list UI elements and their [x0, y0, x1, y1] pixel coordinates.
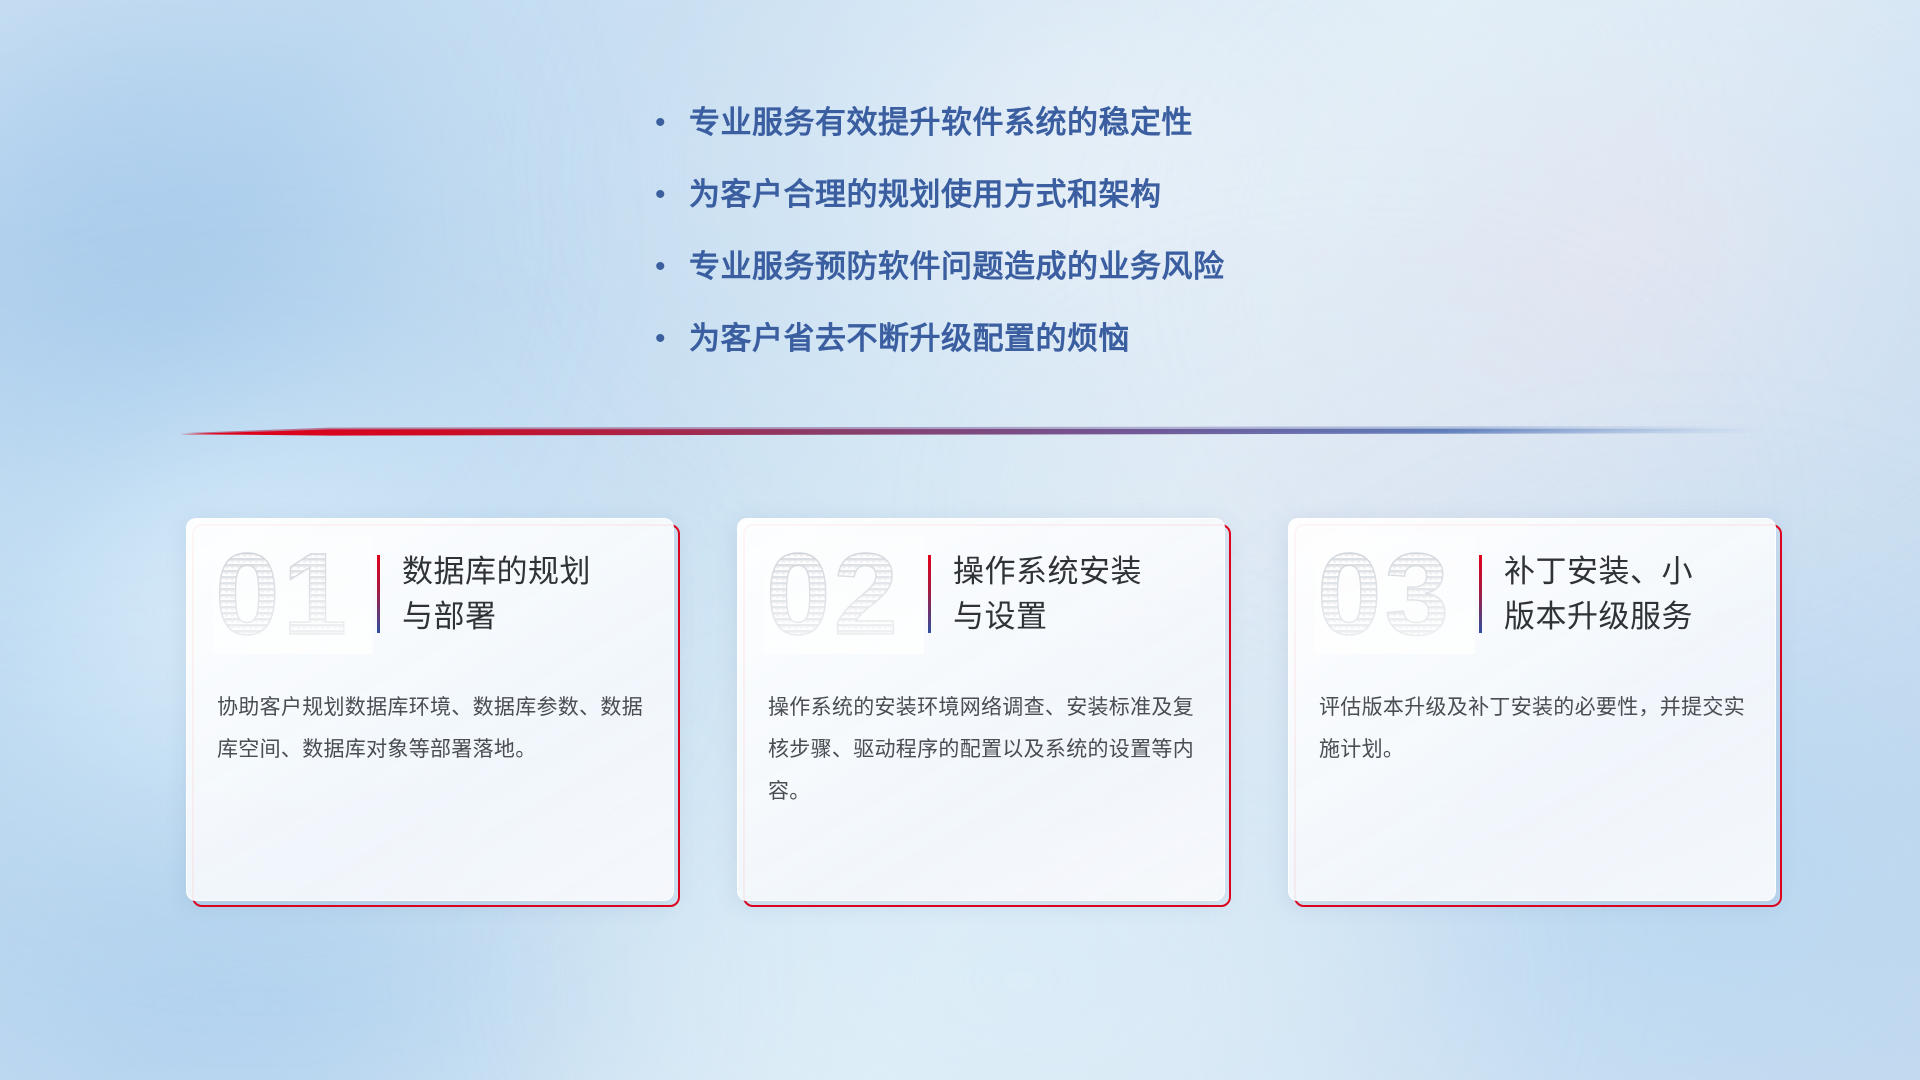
service-card[interactable]: 01 数据库的规划 与部署 协助客户规划数据库环境、数据库参数、数据库空间、数据… — [186, 518, 674, 901]
bullet-label: 为客户省去不断升级配置的烦恼 — [689, 316, 1130, 362]
card-description: 操作系统的安装环境网络调查、安装标准及复核步骤、驱动程序的配置以及系统的设置等内… — [738, 669, 1224, 813]
card-description: 协助客户规划数据库环境、数据库参数、数据库空间、数据库对象等部署落地。 — [187, 669, 673, 771]
list-item: • 为客户合理的规划使用方式和架构 — [655, 172, 1555, 218]
list-item: • 专业服务预防软件问题造成的业务风险 — [655, 244, 1555, 290]
bullet-dot-icon: • — [655, 100, 689, 146]
card-number-01-icon: 01 — [213, 534, 373, 654]
bullet-label: 专业服务预防软件问题造成的业务风险 — [689, 244, 1225, 290]
card-number-02-icon: 02 — [764, 534, 924, 654]
service-card[interactable]: 02 操作系统安装 与设置 操作系统的安装环境网络调查、安装标准及复核步骤、驱动… — [737, 518, 1225, 901]
card-panel: 01 数据库的规划 与部署 协助客户规划数据库环境、数据库参数、数据库空间、数据… — [186, 518, 674, 901]
card-header: 02 操作系统安装 与设置 — [738, 519, 1224, 669]
card-description: 评估版本升级及补丁安装的必要性，并提交实施计划。 — [1289, 669, 1775, 771]
card-panel: 02 操作系统安装 与设置 操作系统的安装环境网络调查、安装标准及复核步骤、驱动… — [737, 518, 1225, 901]
card-panel: 03 补丁安装、小 版本升级服务 评估版本升级及补丁安装的必要性，并提交实施计划… — [1288, 518, 1776, 901]
section-divider — [180, 420, 1760, 444]
card-accent-rule — [1479, 555, 1482, 633]
benefits-bullet-list: • 专业服务有效提升软件系统的稳定性 • 为客户合理的规划使用方式和架构 • 专… — [655, 100, 1555, 388]
slide-canvas: • 专业服务有效提升软件系统的稳定性 • 为客户合理的规划使用方式和架构 • 专… — [0, 0, 1920, 1080]
card-accent-rule — [377, 555, 380, 633]
list-item: • 为客户省去不断升级配置的烦恼 — [655, 316, 1555, 362]
bullet-dot-icon: • — [655, 244, 689, 290]
card-title: 数据库的规划 与部署 — [402, 549, 591, 639]
card-header: 03 补丁安装、小 版本升级服务 — [1289, 519, 1775, 669]
service-card[interactable]: 03 补丁安装、小 版本升级服务 评估版本升级及补丁安装的必要性，并提交实施计划… — [1288, 518, 1776, 901]
list-item: • 专业服务有效提升软件系统的稳定性 — [655, 100, 1555, 146]
card-title: 补丁安装、小 版本升级服务 — [1504, 549, 1693, 639]
bullet-label: 为客户合理的规划使用方式和架构 — [689, 172, 1162, 218]
bullet-label: 专业服务有效提升软件系统的稳定性 — [689, 100, 1193, 146]
bullet-dot-icon: • — [655, 316, 689, 362]
bullet-dot-icon: • — [655, 172, 689, 218]
card-number-03-icon: 03 — [1315, 534, 1475, 654]
card-title: 操作系统安装 与设置 — [953, 549, 1142, 639]
service-card-row: 01 数据库的规划 与部署 协助客户规划数据库环境、数据库参数、数据库空间、数据… — [186, 518, 1746, 908]
card-header: 01 数据库的规划 与部署 — [187, 519, 673, 669]
card-accent-rule — [928, 555, 931, 633]
